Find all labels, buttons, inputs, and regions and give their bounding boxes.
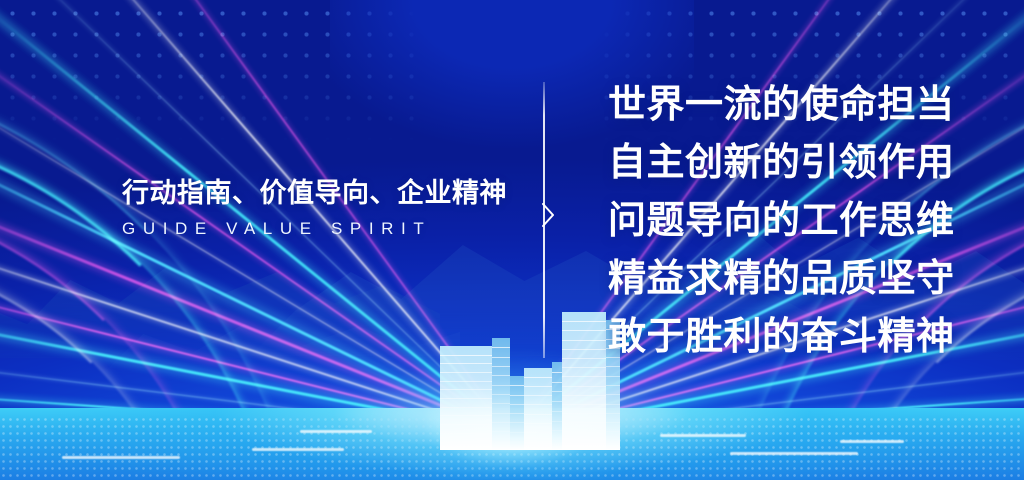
building-floor-line (552, 411, 562, 412)
building-floor-line (562, 386, 606, 387)
building-floor-line (510, 385, 524, 386)
light-ray (0, 342, 512, 436)
building-floor-line (510, 395, 524, 396)
building-4 (524, 368, 552, 450)
light-ray (0, 421, 512, 436)
building-floor-line (440, 407, 492, 408)
building-floor-line (562, 432, 606, 433)
light-ray (0, 381, 512, 436)
building-floor-line (492, 394, 510, 395)
ground-light-dash (62, 456, 180, 459)
building-floor-line (524, 432, 552, 433)
building-6 (562, 312, 606, 450)
right-text-line-3: 问题导向的工作思维 (608, 192, 955, 250)
building-floor-line (492, 422, 510, 423)
light-ray (512, 381, 1024, 436)
building-floor-line (562, 340, 606, 341)
ground-light-dash (730, 452, 858, 455)
ground-plane (0, 408, 1024, 480)
building-1 (440, 346, 492, 450)
building-floor-line (562, 441, 606, 442)
light-ray (512, 421, 1024, 436)
building-floor-line (492, 375, 510, 376)
building-floor-line (552, 382, 562, 383)
building-floor-line (562, 367, 606, 368)
building-floor-line (440, 398, 492, 399)
ground-dot-texture (0, 416, 1024, 480)
building-floor-line (562, 321, 606, 322)
ridge-shape (100, 276, 460, 376)
city-skyline-illustration (440, 300, 620, 450)
building-floor-line (606, 385, 620, 386)
building-floor-line (524, 423, 552, 424)
building-floor-line (606, 404, 620, 405)
building-floor-line (440, 424, 492, 425)
sweeping-arc-left (0, 60, 314, 480)
left-heading: 行动指南、价值导向、企业精神 (122, 176, 502, 210)
right-text-block: 世界一流的使命担当自主创新的引领作用问题导向的工作思维精益求精的品质坚守敢于胜利… (608, 76, 955, 366)
ground-light-dash (840, 440, 904, 443)
left-text-block: 行动指南、价值导向、企业精神 GUIDE VALUE SPIRIT (122, 176, 502, 239)
building-floor-line (510, 404, 524, 405)
building-floor-line (606, 394, 620, 395)
building-floor-line (562, 422, 606, 423)
building-floor-line (606, 413, 620, 414)
building-floor-line (552, 421, 562, 422)
building-floor-line (524, 386, 552, 387)
building-floor-line (524, 441, 552, 442)
ridge-shape (0, 228, 440, 358)
right-text-line-1: 世界一流的使命担当 (608, 76, 955, 134)
building-floor-line (524, 414, 552, 415)
building-floor-line (492, 366, 510, 367)
building-floor-line (562, 330, 606, 331)
building-floor-line (562, 349, 606, 350)
ground-light-dash (252, 448, 344, 451)
building-floor-line (524, 404, 552, 405)
building-5 (552, 362, 562, 450)
building-floor-line (510, 422, 524, 423)
building-floor-line (492, 357, 510, 358)
building-floor-line (510, 432, 524, 433)
building-floor-line (492, 347, 510, 348)
building-floor-line (606, 441, 620, 442)
left-subtitle: GUIDE VALUE SPIRIT (122, 219, 502, 239)
building-floor-line (562, 358, 606, 359)
ground-light-dash (300, 430, 372, 433)
building-floor-line (524, 395, 552, 396)
building-floor-line (440, 441, 492, 442)
building-floor-line (562, 413, 606, 414)
building-floor-line (440, 415, 492, 416)
building-floor-line (492, 413, 510, 414)
building-floor-line (552, 401, 562, 402)
building-floor-line (562, 404, 606, 405)
building-floor-line (606, 376, 620, 377)
building-floor-line (440, 381, 492, 382)
light-ray (0, 250, 512, 436)
chevron-right-icon (541, 203, 555, 227)
building-floor-line (562, 376, 606, 377)
building-floor-line (492, 385, 510, 386)
building-3 (510, 376, 524, 450)
building-floor-line (510, 441, 524, 442)
building-floor-line (440, 355, 492, 356)
light-ray (0, 100, 513, 436)
building-floor-line (552, 440, 562, 441)
building-floor-line (562, 395, 606, 396)
light-ray (0, 43, 512, 436)
building-2 (492, 338, 510, 450)
building-floor-line (524, 377, 552, 378)
building-floor-line (552, 372, 562, 373)
right-text-line-2: 自主创新的引领作用 (608, 134, 955, 192)
building-floor-line (492, 403, 510, 404)
sweeping-arc-left (0, 250, 204, 480)
building-floor-line (606, 422, 620, 423)
corporate-culture-banner: 行动指南、价值导向、企业精神 GUIDE VALUE SPIRIT 世界一流的使… (0, 0, 1024, 480)
building-floor-line (440, 372, 492, 373)
sweeping-arc-left (0, 120, 286, 480)
building-floor-line (552, 430, 562, 431)
building-floor-line (440, 433, 492, 434)
building-floor-line (606, 366, 620, 367)
building-floor-line (552, 391, 562, 392)
building-floor-line (492, 431, 510, 432)
building-floor-line (510, 413, 524, 414)
building-floor-line (440, 389, 492, 390)
building-floor-line (440, 363, 492, 364)
vertical-divider (543, 82, 545, 358)
right-text-line-4: 精益求精的品质坚守 (608, 250, 955, 308)
building-floor-line (606, 431, 620, 432)
ground-light-dash (660, 434, 746, 437)
light-ray (0, 288, 512, 436)
right-text-line-5: 敢于胜利的奋斗精神 (608, 308, 955, 366)
building-floor-line (492, 441, 510, 442)
